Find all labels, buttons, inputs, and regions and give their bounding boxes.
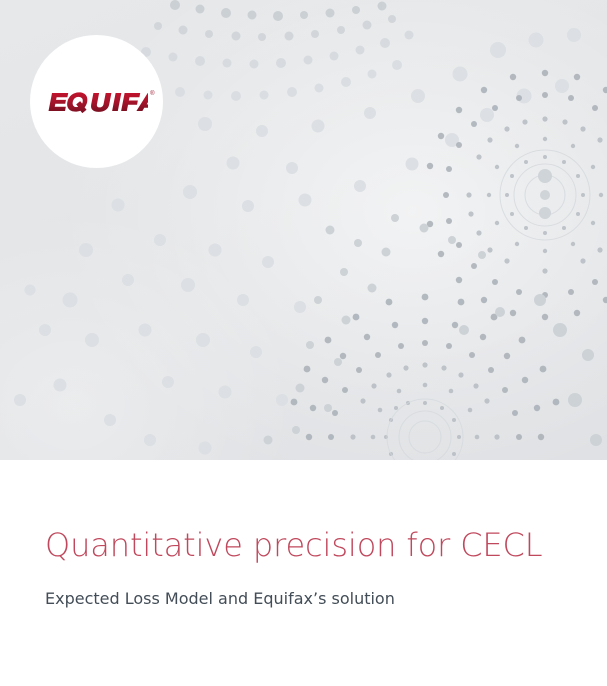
cover-page: ® Quantitative precision for CECL Expect… xyxy=(0,0,607,686)
page-title: Quantitative precision for CECL xyxy=(45,526,543,564)
registered-trademark-icon: ® xyxy=(150,91,154,97)
equifax-logo-icon xyxy=(46,90,148,114)
cover-text-block: Quantitative precision for CECL Expected… xyxy=(0,460,607,686)
logo-wrap: ® xyxy=(46,90,148,114)
equifax-logo-badge: ® xyxy=(30,35,163,168)
hero-banner: ® xyxy=(0,0,607,460)
page-subtitle: Expected Loss Model and Equifax’s soluti… xyxy=(45,589,395,608)
